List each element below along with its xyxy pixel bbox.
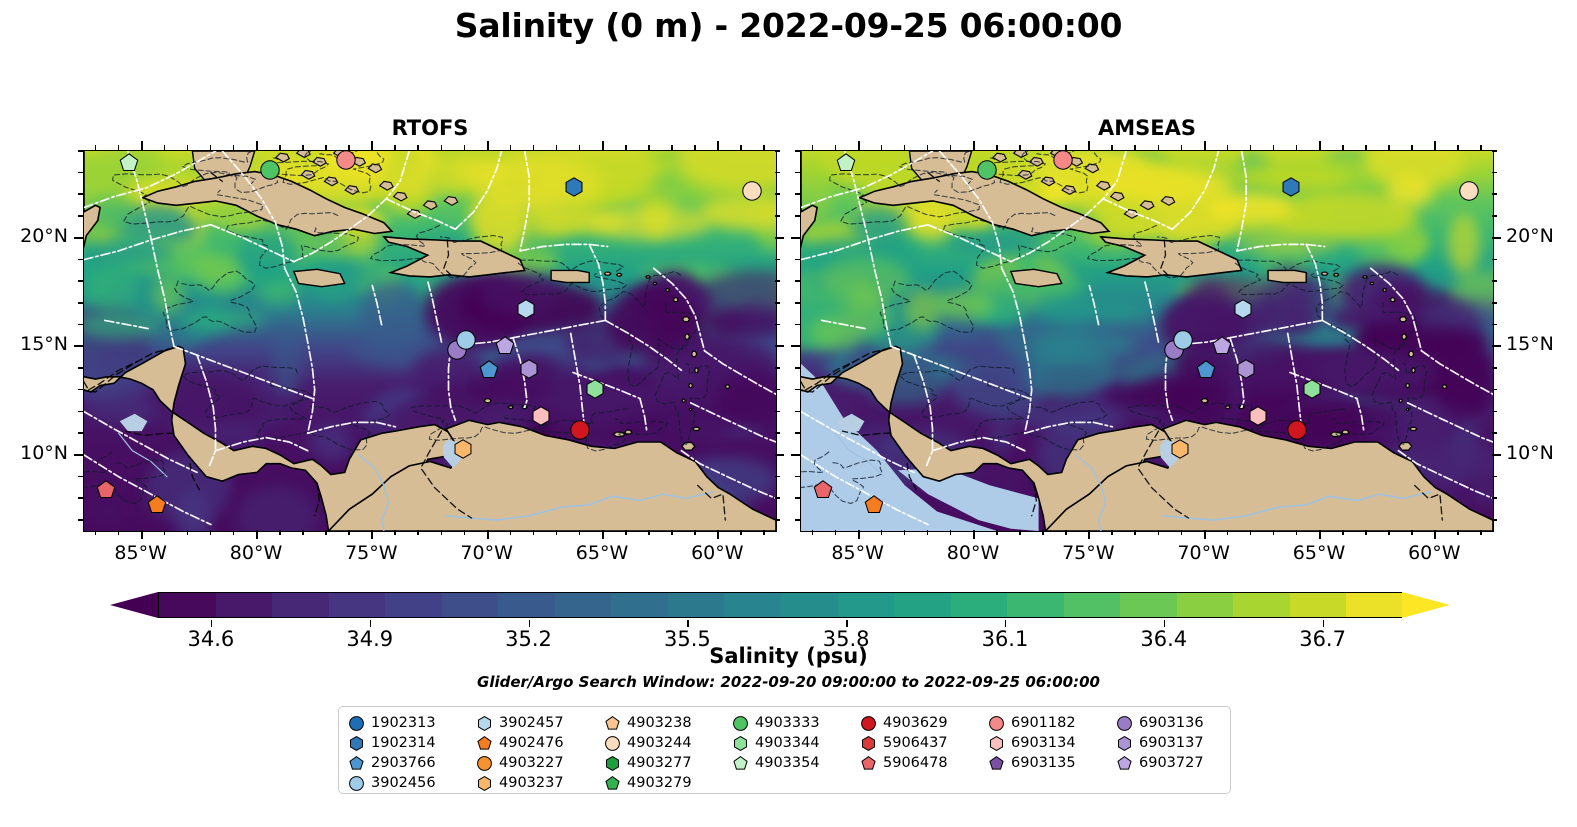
axis-minor-tick xyxy=(996,530,998,535)
colorbar-segment xyxy=(555,593,612,617)
geo-line xyxy=(655,338,709,445)
coastlines-layer xyxy=(84,151,776,531)
hexagon-marker-icon xyxy=(861,736,876,751)
geo-line xyxy=(84,225,211,260)
axis-minor-tick xyxy=(1273,530,1275,535)
geo-line xyxy=(654,268,705,351)
geo-line xyxy=(520,244,608,251)
axis-minor-tick xyxy=(1492,519,1497,521)
legend-item-4903237[interactable]: 4903237 xyxy=(477,773,605,793)
axis-minor-tick xyxy=(1065,530,1067,535)
legend-item-6901182[interactable]: 6901182 xyxy=(989,713,1117,733)
axis-minor-tick xyxy=(95,530,97,535)
hexagon-marker-icon xyxy=(605,756,620,771)
landmass xyxy=(1111,192,1124,201)
hexagon-marker-icon xyxy=(349,736,364,751)
axis-minor-tick xyxy=(795,497,800,499)
axis-minor-tick xyxy=(927,145,929,150)
landmass xyxy=(800,151,817,303)
argo-marker-6903137[interactable] xyxy=(1236,359,1256,383)
axis-major-tick xyxy=(487,141,489,150)
axis-major-tick xyxy=(973,141,975,150)
axis-major-tick xyxy=(602,530,604,539)
axis-minor-tick xyxy=(556,530,558,535)
axis-minor-tick xyxy=(775,172,780,174)
axis-minor-tick xyxy=(795,367,800,369)
landmass xyxy=(1410,427,1417,430)
axis-minor-tick xyxy=(533,145,535,150)
axis-minor-tick xyxy=(1158,145,1160,150)
axis-minor-tick xyxy=(1342,530,1344,535)
axis-minor-tick xyxy=(795,215,800,217)
argo-marker-4903244[interactable] xyxy=(1459,181,1479,205)
legend-item-label: 6901182 xyxy=(1011,715,1076,731)
legend-item-label: 4903354 xyxy=(755,755,820,771)
colorbar-segment xyxy=(442,593,499,617)
x-axis-tick-label: 75°W xyxy=(311,542,431,564)
axis-major-tick xyxy=(1319,141,1321,150)
legend-item-3902457[interactable]: 3902457 xyxy=(477,713,605,733)
axis-minor-tick xyxy=(78,367,83,369)
axis-minor-tick xyxy=(1250,530,1252,535)
axis-major-tick xyxy=(1434,530,1436,539)
map-panel-rtofs[interactable] xyxy=(83,150,777,532)
axis-minor-tick xyxy=(881,145,883,150)
geo-line xyxy=(1371,268,1422,351)
axis-minor-tick xyxy=(1492,259,1497,261)
landmass xyxy=(294,269,345,286)
axis-minor-tick xyxy=(795,193,800,195)
axis-minor-tick xyxy=(1158,530,1160,535)
landmass xyxy=(1363,276,1367,278)
axis-minor-tick xyxy=(1492,497,1497,499)
axis-minor-tick xyxy=(904,530,906,535)
argo-marker-3902457[interactable] xyxy=(1233,299,1253,323)
argo-marker-4903629[interactable] xyxy=(1287,420,1307,444)
hexagon-marker-icon xyxy=(733,736,748,751)
axis-minor-tick xyxy=(187,530,189,535)
axis-minor-tick xyxy=(1250,145,1252,150)
legend-item-6903137[interactable]: 6903137 xyxy=(1117,733,1245,753)
axis-minor-tick xyxy=(775,280,780,282)
colorbar-tick xyxy=(370,620,372,627)
landmass xyxy=(1321,272,1327,275)
axis-minor-tick xyxy=(950,145,952,150)
geo-line xyxy=(571,333,585,426)
pentagon-marker-icon xyxy=(605,716,620,731)
axis-minor-tick xyxy=(881,530,883,535)
legend-item-6903727[interactable]: 6903727 xyxy=(1117,753,1245,773)
colorbar-arrow-low xyxy=(110,592,158,618)
legend-item-label: 4902476 xyxy=(499,735,564,751)
axis-minor-tick xyxy=(1492,193,1497,195)
axis-minor-tick xyxy=(694,145,696,150)
legend-item-label: 4903344 xyxy=(755,735,820,751)
axis-minor-tick xyxy=(1411,530,1413,535)
axis-minor-tick xyxy=(187,145,189,150)
axis-major-tick xyxy=(1088,141,1090,150)
axis-major-tick xyxy=(791,454,800,456)
axis-minor-tick xyxy=(1296,145,1298,150)
legend-item-4903277[interactable]: 4903277 xyxy=(605,753,733,773)
hexagon-marker-icon xyxy=(1117,736,1132,751)
axis-minor-tick xyxy=(78,324,83,326)
axis-minor-tick xyxy=(78,432,83,434)
axis-minor-tick xyxy=(417,530,419,535)
legend-item-6903135[interactable]: 6903135 xyxy=(989,753,1117,773)
legend-item-5906437[interactable]: 5906437 xyxy=(861,733,989,753)
landmass xyxy=(297,150,310,158)
axis-minor-tick xyxy=(1296,530,1298,535)
geo-line xyxy=(386,199,455,229)
axis-minor-tick xyxy=(648,145,650,150)
axis-minor-tick xyxy=(394,530,396,535)
axis-minor-tick xyxy=(1492,280,1497,282)
argo-marker-4903333[interactable] xyxy=(260,160,280,184)
argo-marker-6903727[interactable] xyxy=(495,336,515,360)
axis-minor-tick xyxy=(795,389,800,391)
geo-line xyxy=(1357,399,1364,432)
coastlines-layer xyxy=(801,151,1493,531)
colorbar-tick xyxy=(529,620,531,627)
argo-marker-2903766[interactable] xyxy=(479,360,499,384)
argo-marker-6903727[interactable] xyxy=(1212,336,1232,360)
axis-minor-tick xyxy=(78,215,83,217)
geo-line xyxy=(372,286,381,325)
axis-minor-tick xyxy=(1019,530,1021,535)
axis-major-tick xyxy=(141,530,143,539)
x-axis-tick-label: 85°W xyxy=(798,542,918,564)
landmass xyxy=(666,289,670,292)
axis-minor-tick xyxy=(835,530,837,535)
legend-item-4903238[interactable]: 4903238 xyxy=(605,713,733,733)
axis-minor-tick xyxy=(464,530,466,535)
axis-minor-tick xyxy=(1492,389,1497,391)
axis-major-tick xyxy=(973,530,975,539)
colorbar-tick xyxy=(1323,620,1325,627)
landmass xyxy=(1011,269,1062,286)
axis-minor-tick xyxy=(775,367,780,369)
axis-minor-tick xyxy=(95,145,97,150)
axis-minor-tick xyxy=(464,145,466,150)
argo-marker-5906478[interactable] xyxy=(813,480,833,504)
axis-minor-tick xyxy=(1411,145,1413,150)
landmass xyxy=(1383,289,1387,292)
axis-minor-tick xyxy=(1492,476,1497,478)
hexagon-marker-icon xyxy=(989,736,1004,751)
axis-major-tick xyxy=(1319,530,1321,539)
geo-line xyxy=(1422,351,1494,394)
axis-major-tick xyxy=(1492,345,1501,347)
circle-marker-icon xyxy=(1117,716,1132,731)
argo-marker-1902314[interactable] xyxy=(1281,177,1301,201)
axis-minor-tick xyxy=(795,476,800,478)
landmass xyxy=(394,192,407,201)
y-axis-tick-label-left: 20°N xyxy=(0,225,68,247)
colorbar-segment xyxy=(724,593,781,617)
pentagon-marker-icon xyxy=(733,756,748,771)
landmass xyxy=(444,197,457,206)
axis-minor-tick xyxy=(1042,530,1044,535)
legend-item-4903344[interactable]: 4903344 xyxy=(733,733,861,753)
landmass xyxy=(1443,385,1447,388)
axis-minor-tick xyxy=(775,432,780,434)
colorbar-tick xyxy=(211,620,213,627)
axis-minor-tick xyxy=(835,145,837,150)
geo-line xyxy=(705,351,777,394)
circle-marker-icon xyxy=(349,776,364,791)
landmass xyxy=(120,414,148,431)
argo-marker-1902314[interactable] xyxy=(564,177,584,201)
pentagon-marker-icon xyxy=(477,736,492,751)
legend-item-5906478[interactable]: 5906478 xyxy=(861,753,989,773)
legend-item-label: 6903136 xyxy=(1139,715,1204,731)
legend-item-4903333[interactable]: 4903333 xyxy=(733,713,861,733)
landmass xyxy=(1225,406,1230,409)
axis-minor-tick xyxy=(1042,145,1044,150)
axis-minor-tick xyxy=(775,389,780,391)
legend-item-label: 1902313 xyxy=(371,715,436,731)
colorbar-tick xyxy=(1005,620,1007,627)
axis-major-tick xyxy=(256,141,258,150)
colorbar-segment xyxy=(838,593,895,617)
x-axis-tick-label: 75°W xyxy=(1028,542,1148,564)
axis-major-tick xyxy=(717,141,719,150)
salinity-field xyxy=(84,151,776,531)
landmass xyxy=(484,399,491,403)
landmass xyxy=(653,282,656,284)
axis-minor-tick xyxy=(279,145,281,150)
axis-major-tick xyxy=(74,237,83,239)
x-axis-tick-label: 70°W xyxy=(1144,542,1264,564)
legend-item-label: 4903277 xyxy=(627,755,692,771)
axis-minor-tick xyxy=(812,530,814,535)
legend-item-6903134[interactable]: 6903134 xyxy=(989,733,1117,753)
legend-item-label: 4903279 xyxy=(627,775,692,791)
axis-minor-tick xyxy=(625,145,627,150)
axis-minor-tick xyxy=(78,259,83,261)
axis-minor-tick xyxy=(1492,150,1497,152)
axis-major-tick xyxy=(1434,141,1436,150)
landmass xyxy=(424,201,437,210)
axis-minor-tick xyxy=(775,259,780,261)
legend-item-label: 6903134 xyxy=(1011,735,1076,751)
colorbar-segment xyxy=(611,593,668,617)
axis-minor-tick xyxy=(775,150,780,152)
landmass xyxy=(1161,197,1174,206)
axis-major-tick xyxy=(791,345,800,347)
axis-minor-tick xyxy=(648,530,650,535)
geo-line xyxy=(1237,244,1325,251)
axis-minor-tick xyxy=(556,145,558,150)
axis-minor-tick xyxy=(625,530,627,535)
argo-marker-6903134[interactable] xyxy=(1248,406,1268,430)
argo-marker-6903137[interactable] xyxy=(519,359,539,383)
geo-line xyxy=(845,151,891,346)
axis-minor-tick xyxy=(950,530,952,535)
argo-marker-2903766[interactable] xyxy=(1196,360,1216,384)
axis-major-tick xyxy=(602,141,604,150)
axis-minor-tick xyxy=(775,193,780,195)
axis-minor-tick xyxy=(1480,530,1482,535)
geo-line xyxy=(1408,403,1493,442)
argo-marker-4903244[interactable] xyxy=(742,181,762,205)
y-axis-tick-label-right: 15°N xyxy=(1506,333,1577,355)
legend-item-1902314[interactable]: 1902314 xyxy=(349,733,477,753)
axis-minor-tick xyxy=(533,530,535,535)
x-axis-tick-label: 80°W xyxy=(913,542,1033,564)
landmass xyxy=(1141,201,1154,210)
x-axis-tick-label: 80°W xyxy=(196,542,316,564)
axis-minor-tick xyxy=(1273,145,1275,150)
pentagon-marker-icon xyxy=(1117,756,1132,771)
landmass xyxy=(1390,298,1395,302)
geo-line xyxy=(105,320,151,329)
axis-minor-tick xyxy=(325,145,327,150)
landmass xyxy=(1097,181,1110,190)
geo-line xyxy=(640,399,647,432)
axis-major-tick xyxy=(371,530,373,539)
legend-item-4903227[interactable]: 4903227 xyxy=(477,753,605,773)
argo-marker-3902457[interactable] xyxy=(516,299,536,323)
argo-marker-4903629[interactable] xyxy=(570,420,590,444)
argo-marker-6903134[interactable] xyxy=(531,406,551,430)
colorbar-tick xyxy=(687,620,689,627)
geo-line xyxy=(126,431,175,435)
axis-minor-tick xyxy=(78,172,83,174)
geo-line xyxy=(1145,281,1159,342)
legend-item-4903279[interactable]: 4903279 xyxy=(605,773,733,793)
salinity-field xyxy=(801,151,1493,531)
landmass xyxy=(1406,384,1410,388)
axis-major-tick xyxy=(1492,454,1501,456)
axis-minor-tick xyxy=(417,145,419,150)
legend-item-label: 3902457 xyxy=(499,715,564,731)
landmass xyxy=(617,274,622,277)
legend-item-label: 6903135 xyxy=(1011,755,1076,771)
circle-marker-icon xyxy=(477,756,492,771)
legend-item-4902476[interactable]: 4902476 xyxy=(477,733,605,753)
colorbar-segment xyxy=(1346,593,1403,617)
x-axis-tick-label: 85°W xyxy=(81,542,201,564)
legend-item-label: 4903237 xyxy=(499,775,564,791)
colorbar-segment xyxy=(1064,593,1121,617)
axis-minor-tick xyxy=(775,302,780,304)
colorbar-tick xyxy=(846,620,848,627)
argo-marker-6901182[interactable] xyxy=(336,150,356,174)
colorbar-segment xyxy=(216,593,273,617)
argo-marker-4903333[interactable] xyxy=(977,160,997,184)
pentagon-marker-icon xyxy=(861,756,876,771)
axis-minor-tick xyxy=(579,145,581,150)
colorbar: 34.634.935.235.535.836.136.436.7 xyxy=(110,590,1450,620)
axis-minor-tick xyxy=(325,530,327,535)
landmass xyxy=(689,384,693,388)
axis-minor-tick xyxy=(579,530,581,535)
landmass xyxy=(693,427,700,430)
colorbar-segment xyxy=(1120,593,1177,617)
axis-minor-tick xyxy=(795,324,800,326)
axis-minor-tick xyxy=(1492,367,1497,369)
axis-minor-tick xyxy=(394,145,396,150)
axis-minor-tick xyxy=(118,145,120,150)
legend-item-label: 5906478 xyxy=(883,755,948,771)
colorbar-segment xyxy=(951,593,1008,617)
legend-item-2903766[interactable]: 2903766 xyxy=(349,753,477,773)
landmass xyxy=(83,151,100,303)
axis-minor-tick xyxy=(775,411,780,413)
legend-item-label: 4903238 xyxy=(627,715,692,731)
argo-marker-3902456[interactable] xyxy=(456,330,476,354)
circle-marker-icon xyxy=(349,716,364,731)
axis-minor-tick xyxy=(1111,530,1113,535)
axis-minor-tick xyxy=(904,145,906,150)
legend-item-3902456[interactable]: 3902456 xyxy=(349,773,477,793)
legend-item-4903354[interactable]: 4903354 xyxy=(733,753,861,773)
landmass xyxy=(1334,274,1339,277)
axis-minor-tick xyxy=(441,530,443,535)
geo-line xyxy=(1237,151,1246,251)
argo-marker-4902476[interactable] xyxy=(147,495,167,519)
argo-marker-4903344[interactable] xyxy=(1302,379,1322,403)
legend-item-4903629[interactable]: 4903629 xyxy=(861,713,989,733)
argo-marker-4903354[interactable] xyxy=(119,153,139,177)
axis-minor-tick xyxy=(210,530,212,535)
legend-item-1902313[interactable]: 1902313 xyxy=(349,713,477,733)
geo-line xyxy=(691,403,776,442)
legend-item-6903136[interactable]: 6903136 xyxy=(1117,713,1245,733)
axis-major-tick xyxy=(775,454,784,456)
axis-minor-tick xyxy=(78,150,83,152)
legend-item-4903244[interactable]: 4903244 xyxy=(605,733,733,753)
argo-marker-6901182[interactable] xyxy=(1053,150,1073,174)
axis-minor-tick xyxy=(694,530,696,535)
axis-major-tick xyxy=(775,345,784,347)
axis-minor-tick xyxy=(1065,145,1067,150)
argo-marker-5906478[interactable] xyxy=(96,480,116,504)
geo-line xyxy=(1103,199,1172,229)
axis-minor-tick xyxy=(671,145,673,150)
argo-marker-4903354[interactable] xyxy=(836,153,856,177)
geo-line xyxy=(1290,373,1357,399)
axis-minor-tick xyxy=(775,519,780,521)
map-panel-amseas[interactable] xyxy=(800,150,1494,532)
geo-line xyxy=(573,373,640,399)
geo-line xyxy=(822,320,868,329)
argo-marker-4903237[interactable] xyxy=(453,439,473,463)
axis-minor-tick xyxy=(348,145,350,150)
geo-line xyxy=(520,151,529,251)
landmass xyxy=(682,399,685,402)
argo-marker-4903344[interactable] xyxy=(585,379,605,403)
axis-minor-tick xyxy=(795,259,800,261)
argo-marker-4902476[interactable] xyxy=(864,495,884,519)
argo-marker-4903237[interactable] xyxy=(1170,439,1190,463)
axis-major-tick xyxy=(256,530,258,539)
axis-minor-tick xyxy=(78,302,83,304)
axis-minor-tick xyxy=(233,145,235,150)
legend-item-label: 3902456 xyxy=(371,775,436,791)
axis-major-tick xyxy=(1088,530,1090,539)
legend-item-label: 4903244 xyxy=(627,735,692,751)
axis-minor-tick xyxy=(78,389,83,391)
legend-grid: 1902313190231429037663902456390245749024… xyxy=(349,713,1222,793)
legend-item-label: 4903227 xyxy=(499,755,564,771)
argo-marker-3902456[interactable] xyxy=(1173,330,1193,354)
colorbar-segment xyxy=(272,593,329,617)
landmass xyxy=(380,181,393,190)
pentagon-marker-icon xyxy=(989,756,1004,771)
